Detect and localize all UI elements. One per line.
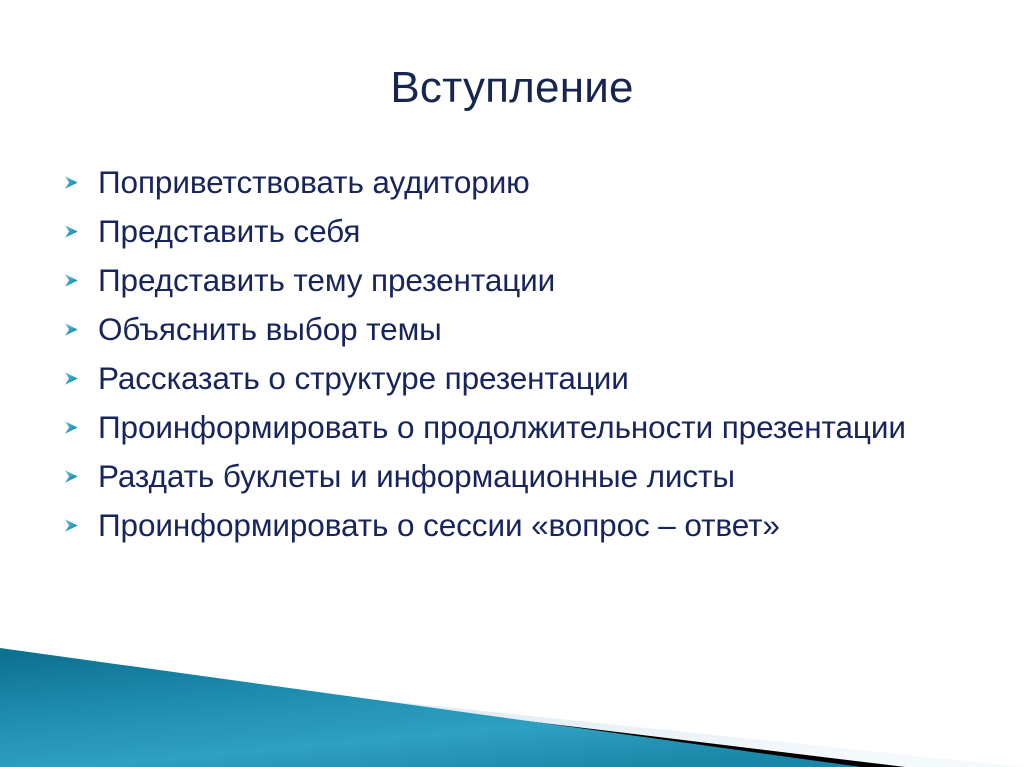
list-item: Проинформировать о сессии «вопрос – отве…: [62, 505, 952, 545]
arrow-bullet-icon: [62, 505, 98, 535]
presentation-slide: Вступление Поприветствовать аудиторию: [0, 0, 1024, 767]
list-item: Представить себя: [62, 211, 952, 251]
corner-wedge-graphic: [0, 617, 1024, 767]
arrow-bullet-icon: [62, 456, 98, 486]
arrow-bullet-icon: [62, 162, 98, 192]
list-item: Рассказать о структуре презентации: [62, 358, 952, 398]
list-item-label: Объяснить выбор темы: [98, 309, 952, 349]
arrow-bullet-icon: [62, 211, 98, 241]
arrow-bullet-icon: [62, 309, 98, 339]
arrow-bullet-icon: [62, 407, 98, 437]
bullet-list: Поприветствовать аудиторию Представить с…: [62, 162, 952, 554]
list-item-label: Представить себя: [98, 211, 952, 251]
list-item: Проинформировать о продолжительности пре…: [62, 407, 952, 447]
list-item-label: Поприветствовать аудиторию: [98, 162, 952, 202]
list-item: Объяснить выбор темы: [62, 309, 952, 349]
list-item: Представить тему презентации: [62, 260, 952, 300]
list-item-label: Рассказать о структуре презентации: [98, 358, 952, 398]
arrow-bullet-icon: [62, 358, 98, 388]
list-item-label: Раздать буклеты и информационные листы: [98, 456, 952, 496]
list-item-label: Проинформировать о продолжительности пре…: [98, 407, 952, 447]
arrow-bullet-icon: [62, 260, 98, 290]
list-item-label: Проинформировать о сессии «вопрос – отве…: [98, 505, 952, 545]
list-item-label: Представить тему презентации: [98, 260, 952, 300]
list-item: Поприветствовать аудиторию: [62, 162, 952, 202]
list-item: Раздать буклеты и информационные листы: [62, 456, 952, 496]
slide-title: Вступление: [0, 62, 1024, 114]
